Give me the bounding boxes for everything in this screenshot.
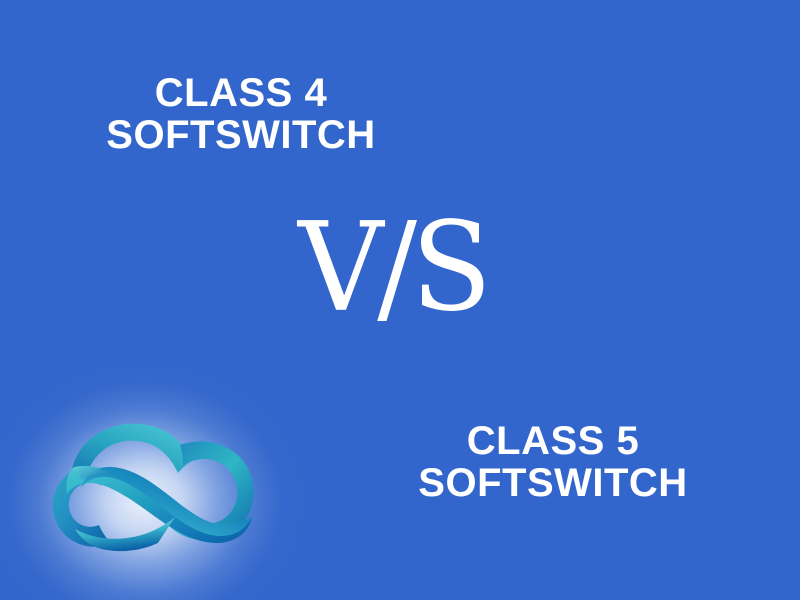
cloud-infinity-logo-icon <box>46 412 276 562</box>
class5-line-1: CLASS 5 <box>312 420 794 462</box>
class4-line-1: CLASS 4 <box>0 72 482 114</box>
class5-line-2: SOFTSWITCH <box>312 462 794 504</box>
class4-line-2: SOFTSWITCH <box>0 114 482 156</box>
versus-mark: V/S <box>0 208 784 326</box>
comparison-graphic: CLASS 4 SOFTSWITCH V/S CLASS 5 SOFTSWITC… <box>0 0 800 600</box>
versus-label: V/S <box>298 206 486 329</box>
class5-softswitch-label: CLASS 5 SOFTSWITCH <box>312 420 794 505</box>
cloud-infinity-logo-svg <box>46 412 276 562</box>
class4-softswitch-label: CLASS 4 SOFTSWITCH <box>0 72 482 157</box>
